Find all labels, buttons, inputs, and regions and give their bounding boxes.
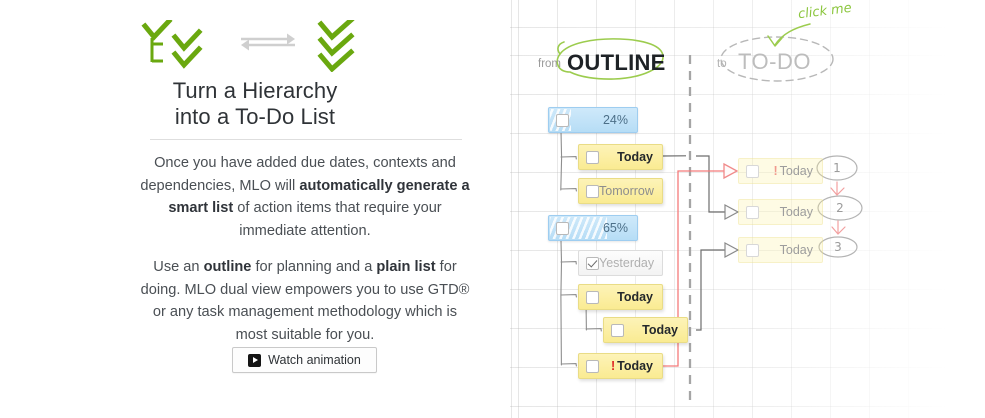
row-checkbox[interactable]: [586, 291, 599, 304]
row-label: !Today: [773, 164, 813, 178]
step-badge-1: 1: [820, 157, 854, 179]
todo-row-2[interactable]: Today: [738, 199, 823, 225]
p2-text-a: Use an: [153, 259, 203, 275]
paragraph-2: Use an outline for planning and a plain …: [140, 256, 470, 346]
outline-row-yesterday[interactable]: Yesterday: [578, 250, 663, 276]
row-checkbox[interactable]: [556, 114, 569, 127]
row-checkbox[interactable]: [746, 165, 759, 178]
row-checkbox[interactable]: [586, 151, 599, 164]
watch-animation-label: Watch animation: [268, 353, 361, 367]
arrowhead-todo-2: [725, 205, 738, 219]
outline-row-today-2[interactable]: Today: [578, 284, 663, 310]
p2-text-b: for planning and a: [251, 259, 376, 275]
row-label: Today: [780, 243, 813, 257]
step-badge-3: 3: [821, 236, 855, 258]
title-line-1: Turn a Hierarchy: [0, 78, 510, 104]
hierarchy-checkmarks-icon: [141, 20, 219, 72]
arrowhead-todo-1: [724, 164, 737, 178]
row-label: Tomorrow: [599, 184, 654, 198]
click-me-arrow: [768, 24, 810, 46]
row-checkbox[interactable]: [611, 324, 624, 337]
arrowhead-todo-3: [725, 243, 738, 257]
row-label: Today: [617, 290, 653, 304]
row-label: !Today: [611, 359, 653, 373]
progress-percent-label: 65%: [603, 221, 628, 235]
row-checkbox[interactable]: [746, 244, 759, 257]
outline-row-today-1[interactable]: Today: [578, 144, 663, 170]
mapping-connectors-gray: [659, 156, 725, 330]
progress-percent-label: 24%: [603, 113, 628, 127]
p1-text-b: of action items that require your immedi…: [233, 200, 441, 239]
todo-row-1[interactable]: !Today: [738, 158, 823, 184]
row-label: Today: [780, 205, 813, 219]
outline-to-todo-diagram: from OUTLINE to TO-DO click me 24% Today…: [510, 0, 985, 418]
feature-section: Turn a Hierarchy into a To-Do List Once …: [0, 0, 985, 418]
outline-row-today-urgent[interactable]: !Today: [578, 353, 663, 379]
p2-bold-plainlist: plain list: [376, 259, 435, 275]
row-label-text: Today: [780, 164, 813, 178]
from-label: from: [538, 58, 561, 70]
urgent-marker: !: [773, 164, 777, 178]
todo-row-3[interactable]: Today: [738, 237, 823, 263]
step-badge-2: 2: [823, 197, 857, 219]
row-checkbox[interactable]: [556, 222, 569, 235]
row-label: Yesterday: [599, 256, 654, 270]
outline-row-tomorrow[interactable]: Tomorrow: [578, 178, 663, 204]
outline-row-progress-65[interactable]: 65%: [548, 215, 638, 241]
feature-icon-row: [0, 18, 510, 74]
exchange-arrows-icon: [237, 26, 299, 66]
outline-label[interactable]: OUTLINE: [567, 50, 666, 76]
outline-row-progress-24[interactable]: 24%: [548, 107, 638, 133]
to-label: to: [717, 58, 727, 70]
stacked-checkmarks-icon: [317, 20, 369, 72]
row-label: Today: [642, 323, 678, 337]
row-checkbox[interactable]: [586, 360, 599, 373]
row-checkbox[interactable]: [746, 206, 759, 219]
row-checkbox[interactable]: [586, 185, 599, 198]
outline-row-today-3[interactable]: Today: [603, 317, 688, 343]
play-video-icon: [248, 354, 261, 367]
outline-tree-lines-group-1: [561, 131, 577, 191]
urgent-marker: !: [611, 359, 615, 373]
row-label-text: Today: [617, 359, 653, 373]
p2-bold-outline: outline: [204, 259, 252, 275]
watch-animation-button[interactable]: Watch animation: [232, 347, 377, 373]
page-title: Turn a Hierarchy into a To-Do List: [0, 78, 510, 130]
paragraph-1: Once you have added due dates, contexts …: [140, 152, 470, 242]
row-checkbox[interactable]: [586, 257, 599, 270]
todo-label[interactable]: TO-DO: [738, 49, 811, 75]
left-content-panel: Turn a Hierarchy into a To-Do List Once …: [0, 0, 510, 418]
body-copy: Once you have added due dates, contexts …: [140, 152, 470, 360]
title-line-2: into a To-Do List: [0, 104, 510, 130]
row-label: Today: [617, 150, 653, 164]
title-divider: [150, 139, 462, 140]
